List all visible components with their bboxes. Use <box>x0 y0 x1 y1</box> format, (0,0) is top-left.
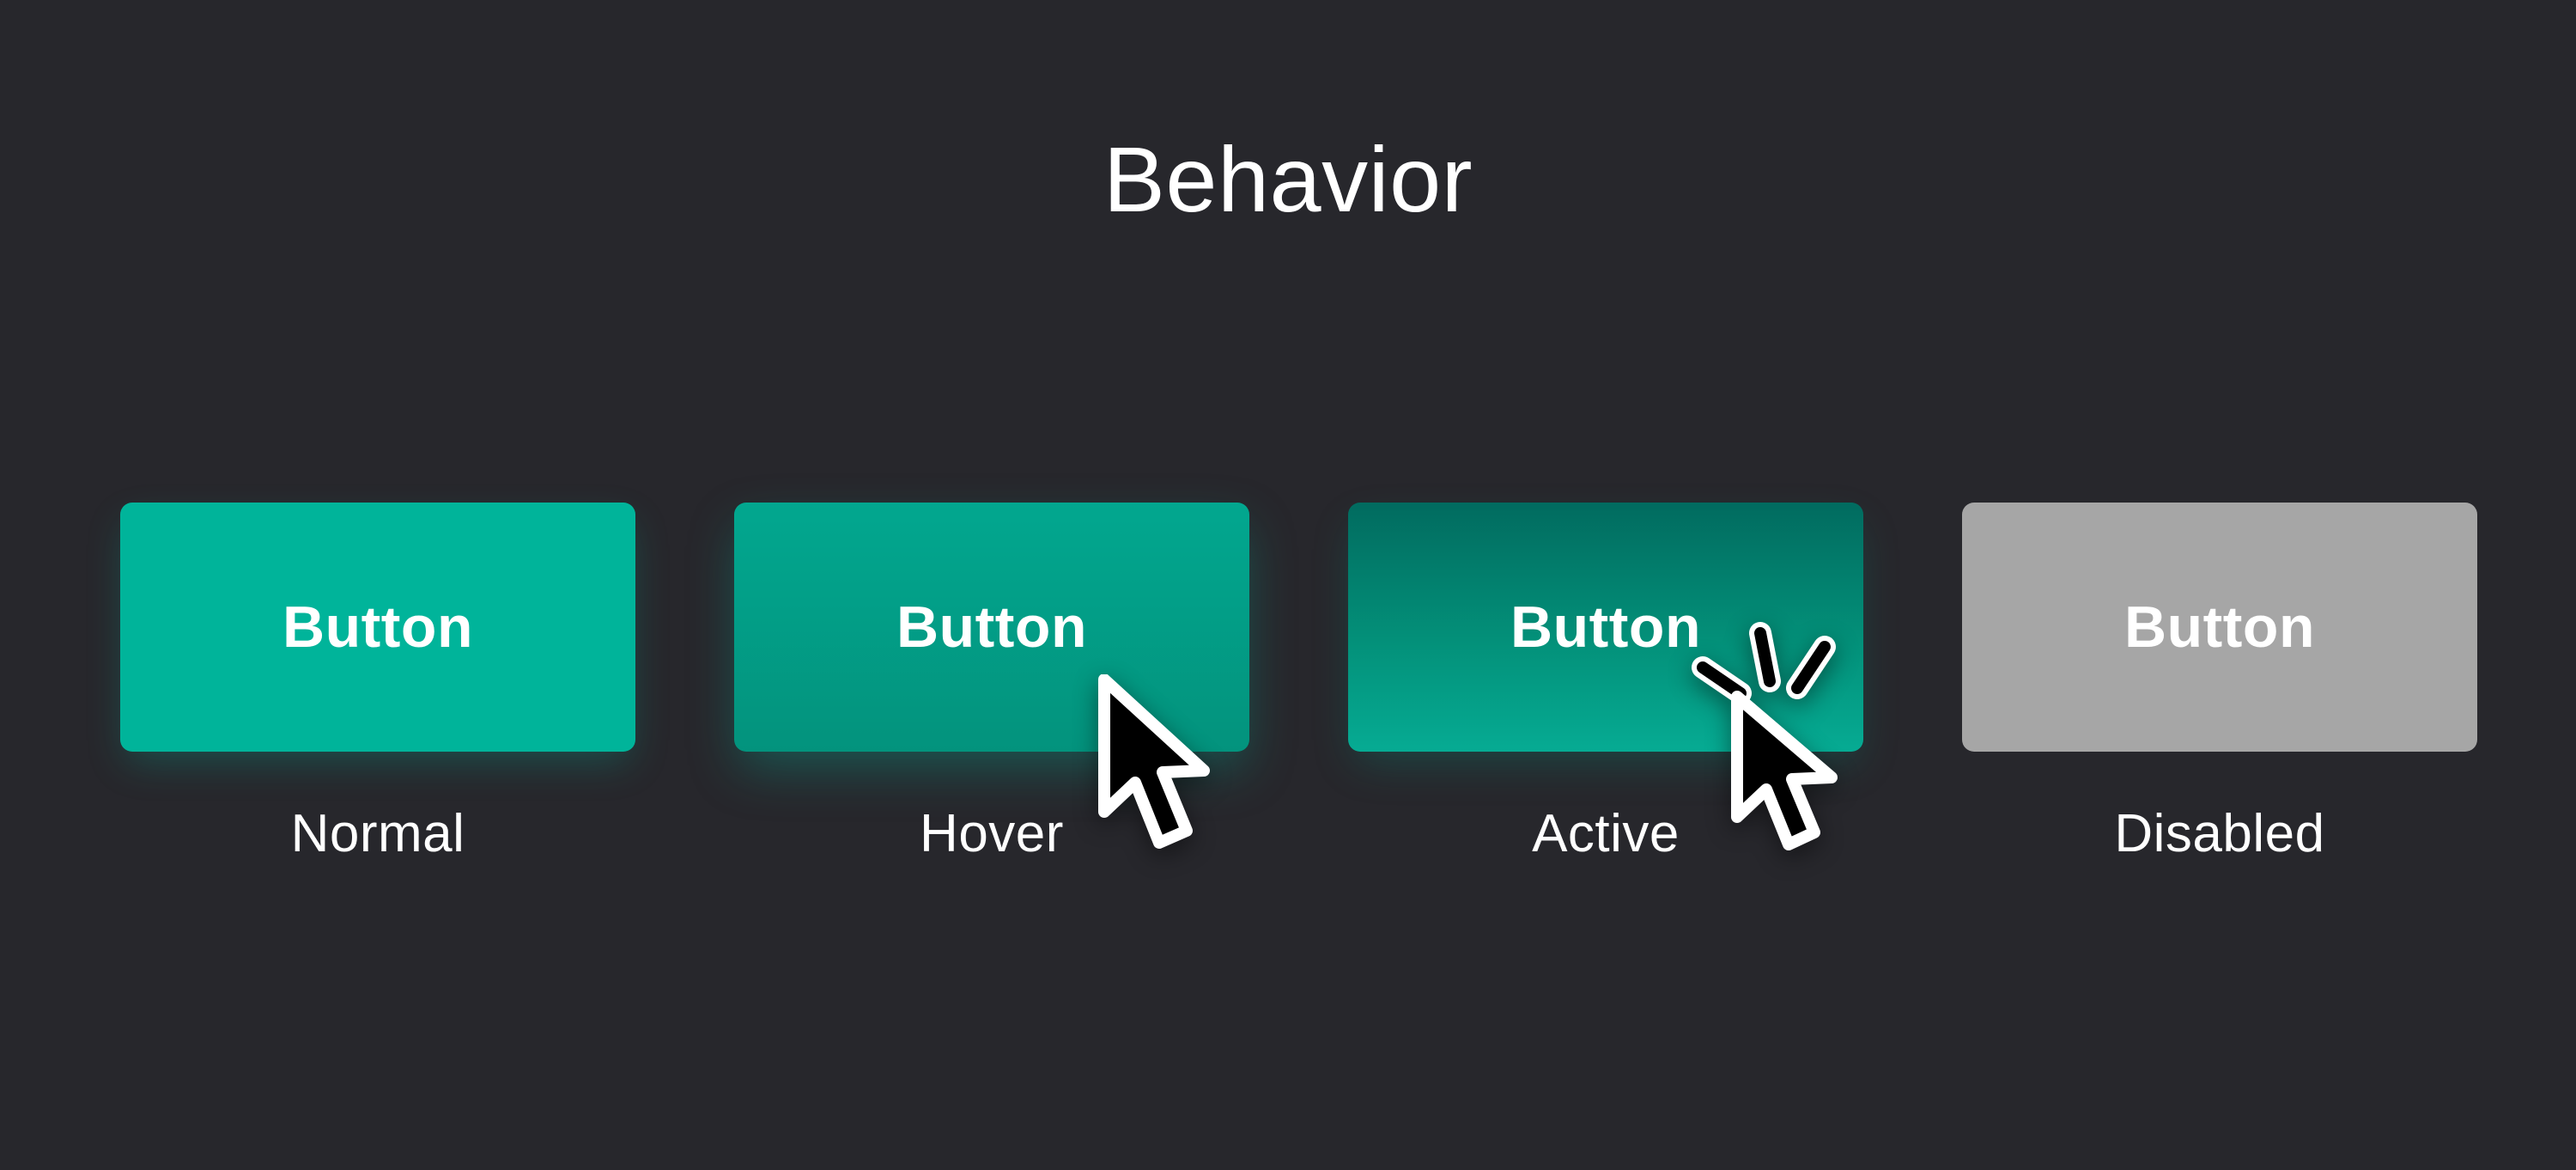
state-caption-active: Active <box>1532 803 1680 864</box>
state-cell-disabled: Button Disabled <box>1962 503 2477 864</box>
state-caption-disabled: Disabled <box>2114 803 2324 864</box>
button-hover-label: Button <box>896 594 1087 661</box>
button-normal-label: Button <box>283 594 473 661</box>
button-disabled-label: Button <box>2124 594 2315 661</box>
button-hover[interactable]: Button <box>734 503 1249 752</box>
button-states-row: Button Normal Button Hover Button <box>120 503 2469 1018</box>
state-cell-normal: Button Normal <box>120 503 635 864</box>
state-caption-hover: Hover <box>920 803 1064 864</box>
page-title: Behavior <box>0 129 2576 231</box>
button-active[interactable]: Button <box>1348 503 1863 752</box>
behavior-states-page: Behavior Button Normal Button Hover B <box>0 0 2576 1170</box>
button-active-label: Button <box>1510 594 1701 661</box>
state-cell-hover: Button Hover <box>734 503 1249 864</box>
button-normal[interactable]: Button <box>120 503 635 752</box>
button-disabled: Button <box>1962 503 2477 752</box>
state-cell-active: Button Active <box>1348 503 1863 864</box>
state-caption-normal: Normal <box>291 803 465 864</box>
